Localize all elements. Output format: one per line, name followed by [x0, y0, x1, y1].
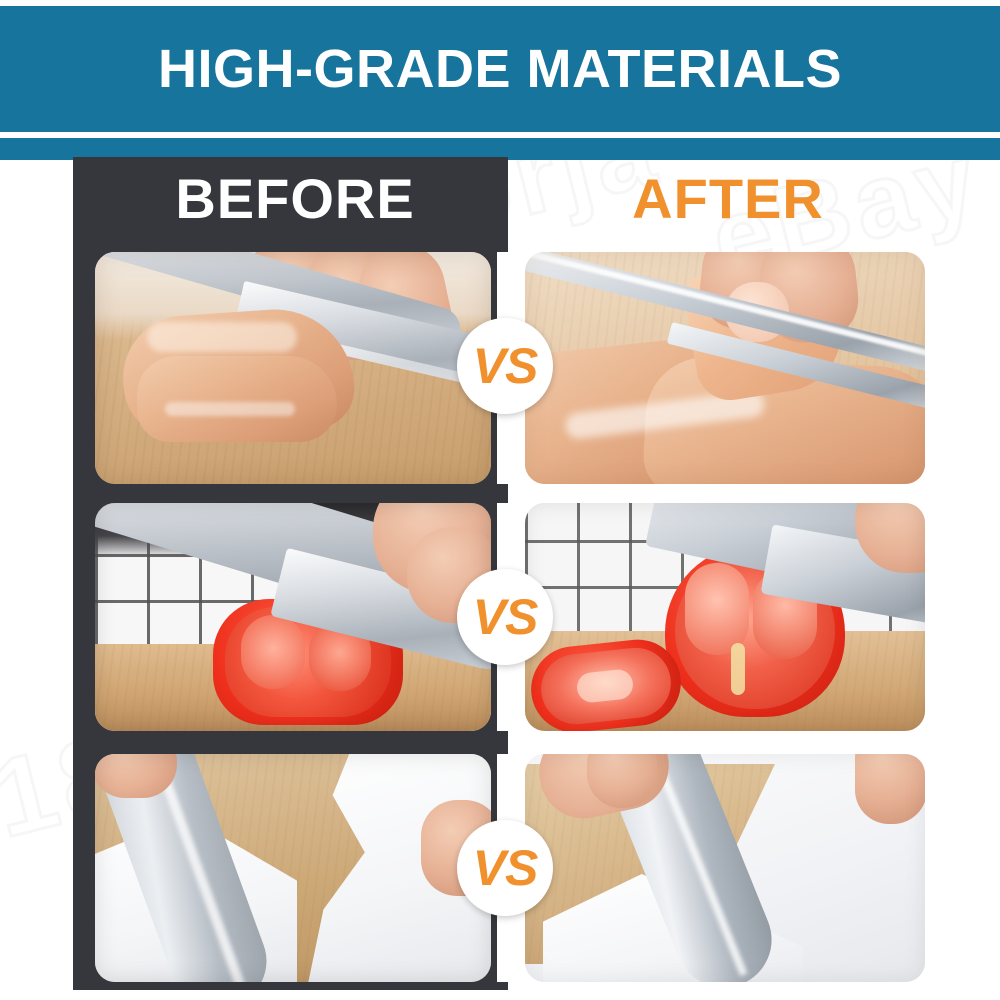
paper-before-image: [95, 754, 491, 982]
before-column-label: BEFORE: [95, 168, 495, 230]
header-rule-top: [0, 0, 1000, 6]
before-image-row3: [95, 754, 491, 982]
chicken-breast-before-image: [95, 252, 491, 484]
tomato-after-image: [525, 503, 925, 731]
vs-badge-row3: VS: [457, 820, 553, 916]
product-comparison-infographic: 18.58 jorja eBay 18.58 jorja eBay HIGH-G…: [0, 0, 1000, 1000]
vs-badge-row1: VS: [457, 318, 553, 414]
after-image-row3: [525, 754, 925, 982]
paper-after-image: [525, 754, 925, 982]
page-title: HIGH-GRADE MATERIALS: [0, 40, 1000, 98]
before-image-row2: [95, 503, 491, 731]
header-banner: HIGH-GRADE MATERIALS: [0, 0, 1000, 138]
vs-badge-row2: VS: [457, 569, 553, 665]
tomato-before-image: [95, 503, 491, 731]
after-column-label: AFTER: [528, 168, 928, 230]
after-image-row1: [525, 252, 925, 484]
vs-label: VS: [473, 592, 538, 642]
vs-label: VS: [473, 341, 538, 391]
before-image-row1: [95, 252, 491, 484]
after-image-row2: [525, 503, 925, 731]
vs-label: VS: [473, 843, 538, 893]
chicken-breast-after-image: [525, 252, 925, 484]
header-rule-bottom: [0, 132, 1000, 138]
